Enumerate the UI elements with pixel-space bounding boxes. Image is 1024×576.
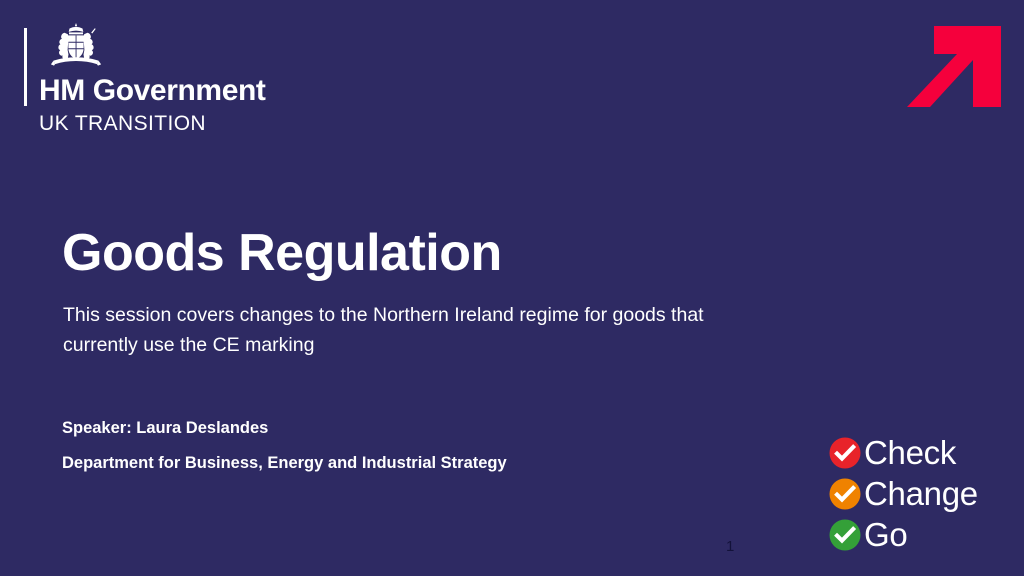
check-change-go-label: Go xyxy=(864,518,907,552)
check-change-go-label: Check xyxy=(864,436,956,470)
check-change-go-label: Change xyxy=(864,477,978,511)
check-circle-icon xyxy=(828,436,862,470)
presentation-slide: HM Government UK TRANSITION Goods Regula… xyxy=(0,0,1024,576)
check-change-go-logo: Check Change Go xyxy=(828,432,1008,560)
slide-number: 1 xyxy=(726,538,734,556)
speaker-department: Department for Business, Energy and Indu… xyxy=(62,453,507,474)
diagonal-arrow-up-right-icon xyxy=(907,22,1005,112)
check-change-go-item: Go xyxy=(828,514,1008,555)
check-change-go-item: Change xyxy=(828,473,1008,514)
brand-vertical-rule xyxy=(24,28,27,106)
check-circle-icon xyxy=(828,477,862,511)
speaker-name: Speaker: Laura Deslandes xyxy=(62,418,268,439)
page-title: Goods Regulation xyxy=(62,222,502,284)
check-circle-icon xyxy=(828,518,862,552)
hm-government-logo: HM Government UK TRANSITION xyxy=(22,22,342,142)
royal-coat-of-arms-icon xyxy=(40,22,112,74)
page-subtitle: This session covers changes to the North… xyxy=(63,300,743,360)
brand-name: HM Government xyxy=(39,74,266,108)
brand-subtitle: UK TRANSITION xyxy=(39,112,206,136)
check-change-go-item: Check xyxy=(828,432,1008,473)
